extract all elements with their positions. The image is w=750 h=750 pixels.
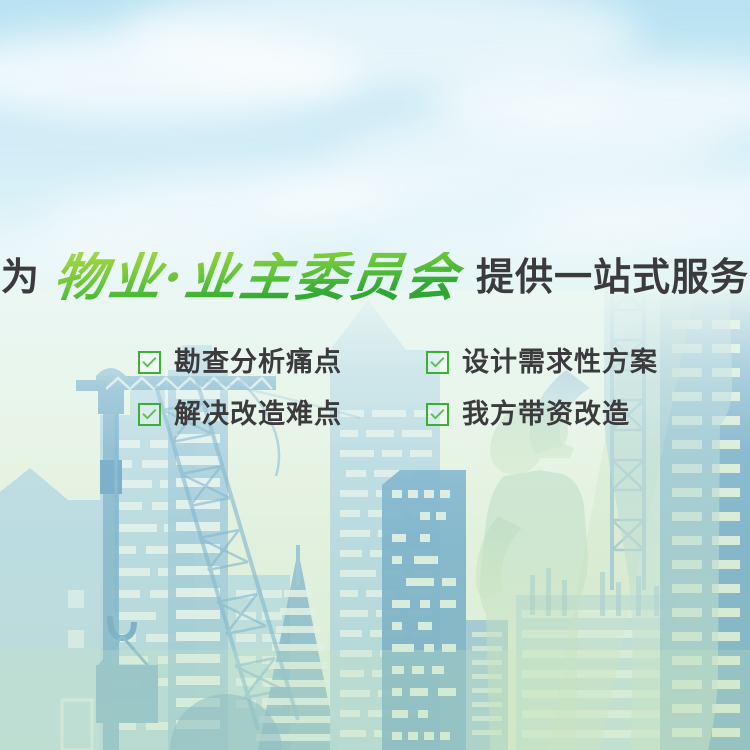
check-icon [426, 351, 449, 374]
feature-item-2: 设计需求性方案 [426, 336, 698, 388]
feature-label: 我方带资改造 [462, 401, 630, 428]
headline: 为 物业·业主委员会 提供一站式服务 [0, 247, 750, 309]
promo-banner: 为 物业·业主委员会 提供一站式服务 勘查分析痛点 设计需求性方案 [0, 0, 750, 750]
headline-tail-text: 提供一站式服务 [476, 259, 749, 297]
feature-label: 设计需求性方案 [462, 349, 658, 376]
headline-brand-text: 物业·业主委员会 [47, 252, 467, 304]
check-icon [138, 351, 161, 374]
feature-item-1: 勘查分析痛点 [138, 336, 410, 388]
check-icon [426, 403, 449, 426]
feature-item-4: 我方带资改造 [426, 388, 698, 440]
headline-lead-text: 为 [1, 259, 40, 297]
feature-list: 勘查分析痛点 设计需求性方案 解决改造难点 [138, 336, 698, 440]
feature-item-3: 解决改造难点 [138, 388, 410, 440]
feature-label: 勘查分析痛点 [174, 349, 342, 376]
feature-label: 解决改造难点 [174, 401, 342, 428]
check-icon [138, 403, 161, 426]
